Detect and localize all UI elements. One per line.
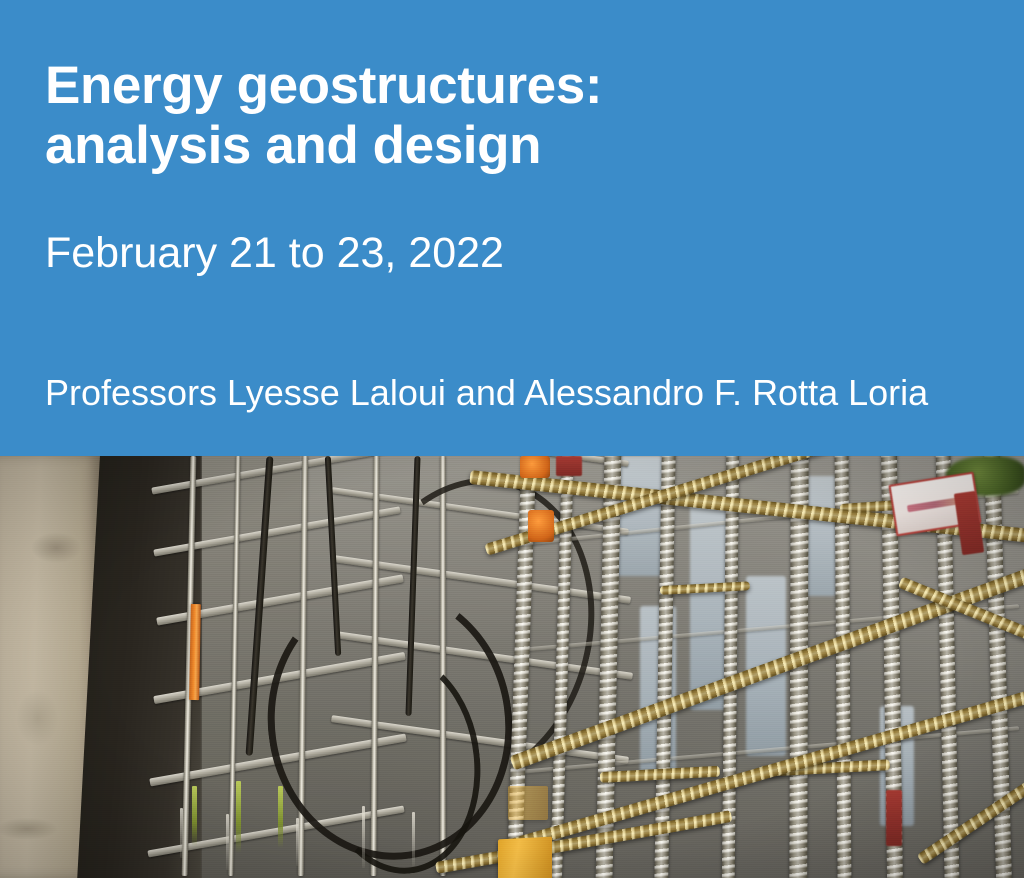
event-date: February 21 to 23, 2022 [45,228,504,278]
green-marking [236,781,241,853]
concrete-drip [296,818,299,866]
orange-cap [528,510,554,542]
construction-photo [0,456,1024,878]
presenters-line: Professors Lyesse Laloui and Alessandro … [45,371,928,415]
equipment-box [508,786,548,820]
green-marking [278,786,283,848]
concrete-drip [362,806,365,868]
orange-cap [520,456,550,478]
concrete-drip [226,814,229,870]
banner: Energy geostructures: analysis and desig… [0,0,1024,456]
page-title-line-1: Energy geostructures: [45,56,945,116]
page-title: Energy geostructures: analysis and desig… [45,56,945,176]
orange-marker-strip [189,604,201,700]
red-marker [886,790,902,846]
poster-root: Energy geostructures: analysis and desig… [0,0,1024,878]
concrete-drip [412,812,415,866]
concrete-drip [180,808,183,858]
red-marker [556,456,582,476]
page-title-line-2: analysis and design [45,116,945,176]
equipment-box [498,837,552,878]
green-marking [192,786,197,846]
